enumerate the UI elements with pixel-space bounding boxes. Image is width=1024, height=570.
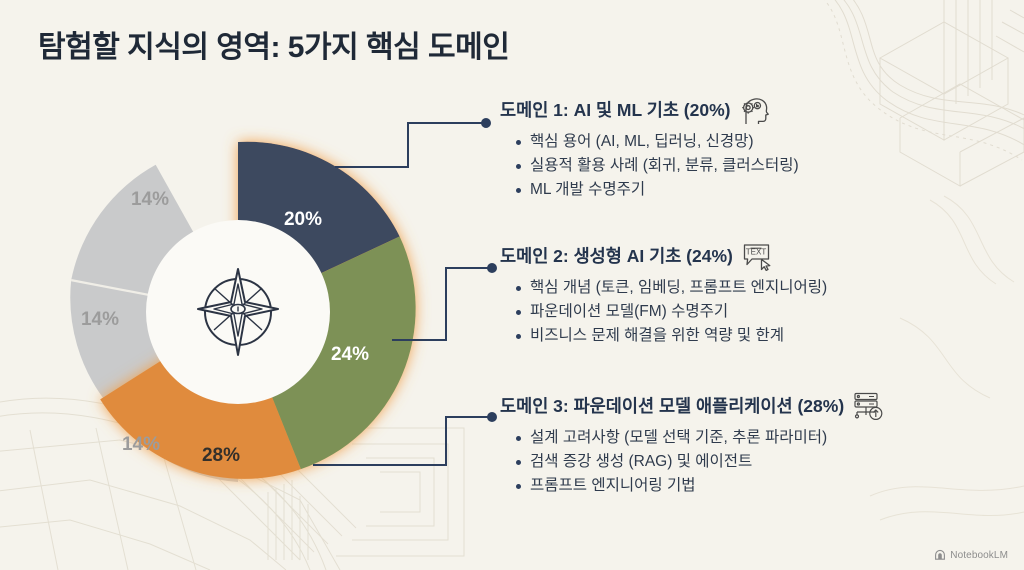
domain-2-heading: 도메인 2: 생성형 AI 기초 (24%) [500,246,733,268]
domain-1-heading: 도메인 1: AI 및 ML 기초 (20%) [500,100,730,122]
head-with-gear-icon [738,95,772,125]
slice-label-28: 28% [202,445,240,466]
slice-label-20: 20% [284,209,322,230]
domain-3-heading-row: 도메인 3: 파운데이션 모델 애플리케이션 (28%) [500,396,1024,421]
domain-2-bullets: 핵심 개념 (토큰, 임베딩, 프롬프트 엔지니어링) 파운데이션 모델(FM)… [500,276,1024,348]
list-item: 파운데이션 모델(FM) 수명주기 [516,300,1024,324]
domain-3-heading: 도메인 3: 파운데이션 모델 애플리케이션 (28%) [500,396,844,418]
page-title: 탐험할 지식의 영역: 5가지 핵심 도메인 [38,22,509,66]
domain-block-3: 도메인 3: 파운데이션 모델 애플리케이션 (28%) 설계 고려사항 (모델… [500,396,1024,498]
slice-label-14-a: 14% [122,434,160,455]
domain-3-bullets: 설계 고려사항 (모델 선택 기준, 추론 파라미터) 검색 증강 생성 (RA… [500,426,1024,498]
connector-dot-1 [481,118,491,128]
slice-label-14-c: 14% [131,189,169,210]
list-item: ML 개발 수명주기 [516,178,1024,202]
list-item: 설계 고려사항 (모델 선택 기준, 추론 파라미터) [516,426,1024,450]
domain-1-heading-row: 도메인 1: AI 및 ML 기초 (20%) [500,100,1024,125]
domain-1-bullets: 핵심 용어 (AI, ML, 딥러닝, 신경망) 실용적 활용 사례 (회귀, … [500,130,1024,202]
text-bubble-cursor-icon: TEXT [741,241,775,271]
list-item: 핵심 용어 (AI, ML, 딥러닝, 신경망) [516,130,1024,154]
slice-label-24: 24% [331,344,369,365]
list-item: 비즈니스 문제 해결을 위한 역량 및 한계 [516,324,1024,348]
server-upload-icon [852,391,886,421]
domain-2-heading-row: 도메인 2: 생성형 AI 기초 (24%) TEXT [500,246,1024,271]
list-item: 프롬프트 엔지니어링 기법 [516,474,1024,498]
connector-dot-3 [487,412,497,422]
watermark: NotebookLM [934,549,1008,561]
list-item: 검색 증강 생성 (RAG) 및 에이전트 [516,450,1024,474]
notebooklm-logo-icon [934,549,946,561]
connector-dot-2 [487,263,497,273]
slice-label-14-b: 14% [81,309,119,330]
domain-block-1: 도메인 1: AI 및 ML 기초 (20%) 핵심 용어 (AI, ML, 딥… [500,100,1024,202]
watermark-label: NotebookLM [950,550,1008,561]
svg-text:TEXT: TEXT [746,248,767,257]
domain-block-2: 도메인 2: 생성형 AI 기초 (24%) TEXT 핵심 개념 (토큰, 임… [500,246,1024,348]
list-item: 핵심 개념 (토큰, 임베딩, 프롬프트 엔지니어링) [516,276,1024,300]
donut-chart: 20% 24% 28% 14% 14% 14% [38,112,438,512]
list-item: 실용적 활용 사례 (회귀, 분류, 클러스터링) [516,154,1024,178]
